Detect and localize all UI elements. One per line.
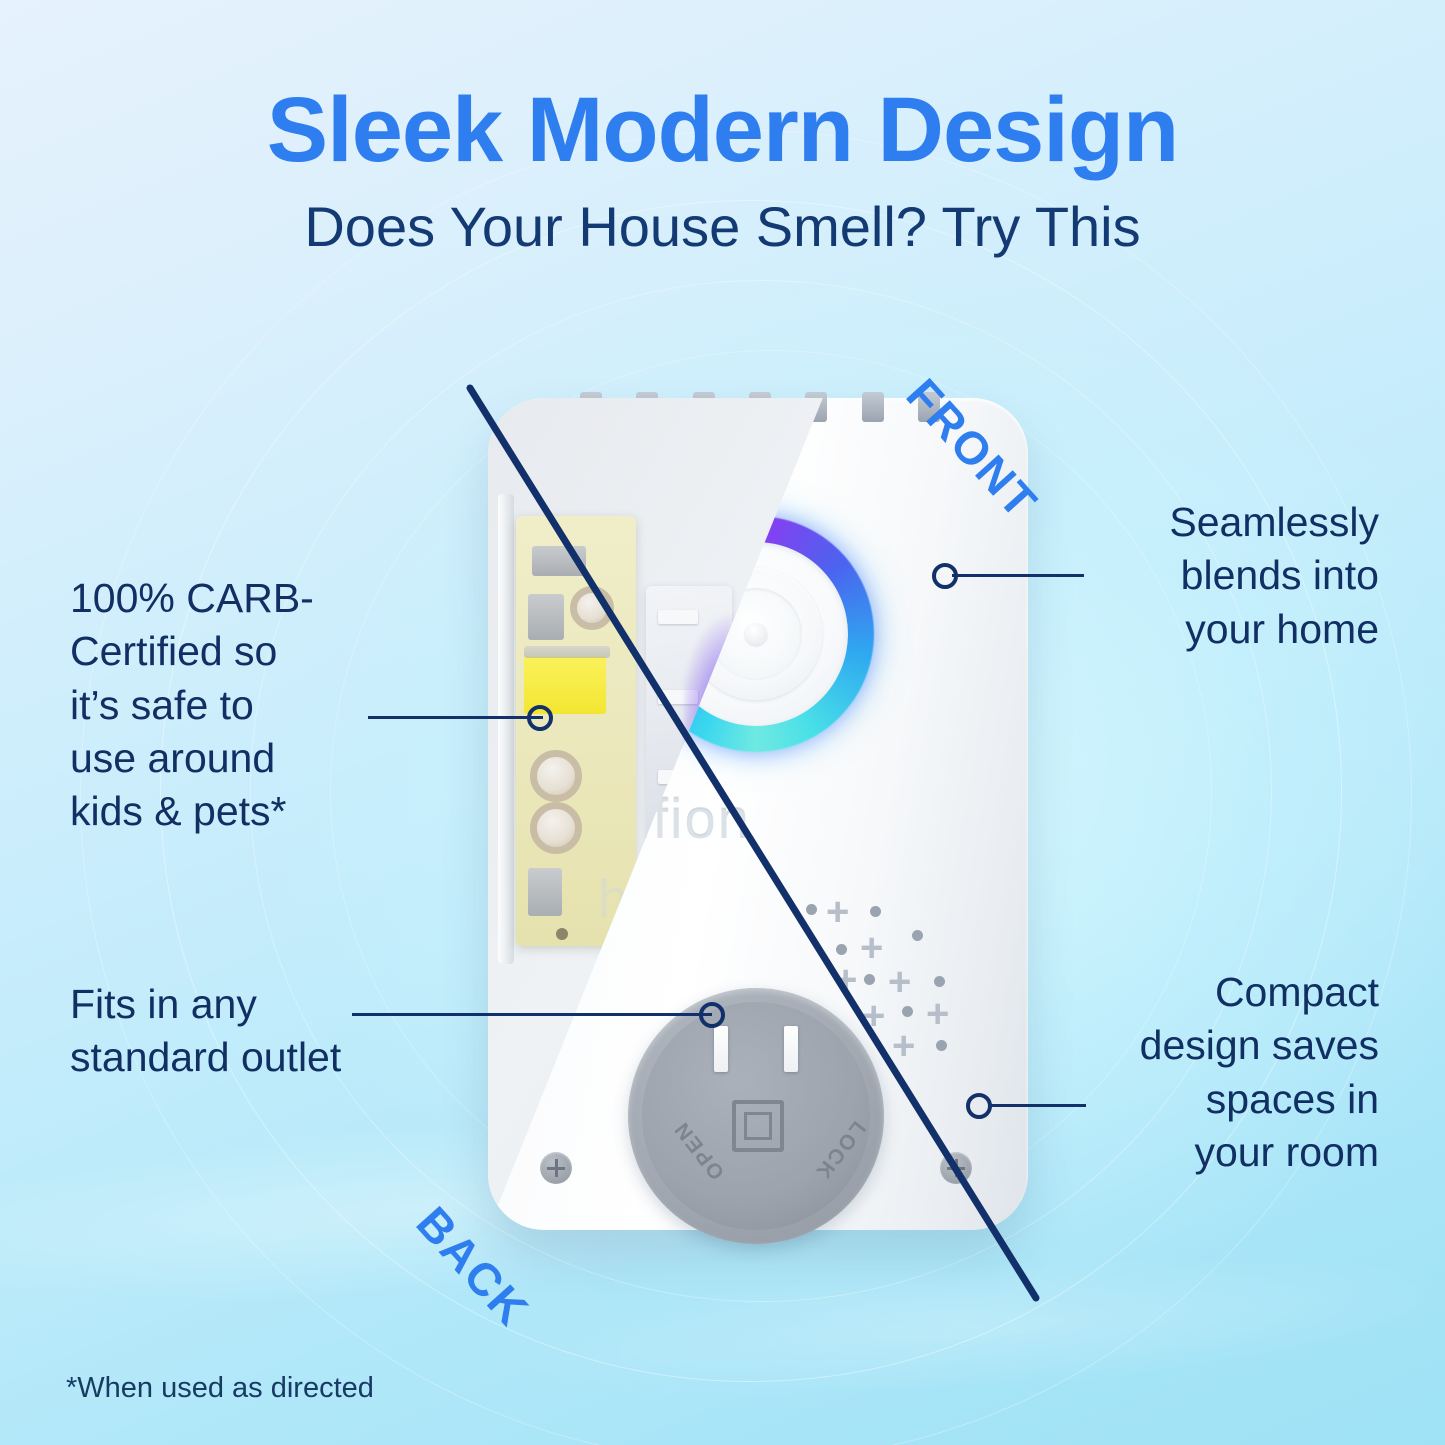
leader-dot-blends xyxy=(932,563,958,589)
ion-plus-icon: + xyxy=(926,994,949,1034)
callout-blends-into-home: Seamlessly blends into your home xyxy=(1109,496,1379,656)
ion-dot xyxy=(806,904,817,915)
plug-prong xyxy=(784,1026,798,1072)
callout-line: your home xyxy=(1109,603,1379,656)
ion-dot xyxy=(870,906,881,917)
leader-line-compact xyxy=(988,1104,1086,1107)
pcb-capacitor xyxy=(570,586,614,630)
plug-rotating-dial[interactable]: OPEN LOCK xyxy=(628,988,884,1244)
ion-dot xyxy=(836,944,847,955)
ion-dot xyxy=(912,930,923,941)
callout-line: kids & pets* xyxy=(70,785,400,838)
callout-line: 100% CARB- xyxy=(70,572,400,625)
leader-line-blends xyxy=(952,574,1084,577)
callout-line: use around xyxy=(70,732,400,785)
pcb-solder-point xyxy=(556,928,568,940)
leader-dot-outlet xyxy=(699,1002,725,1028)
page-subtitle: Does Your House Smell? Try This xyxy=(0,194,1445,259)
pcb-capacitor xyxy=(530,750,582,802)
case-screw xyxy=(540,1152,572,1184)
callout-standard-outlet: Fits in any standard outlet xyxy=(70,978,430,1085)
ion-plus-icon: + xyxy=(862,996,885,1036)
case-inner-rib xyxy=(498,494,514,964)
vent-slot xyxy=(862,392,884,422)
power-button-nub xyxy=(745,623,767,645)
pcb-component xyxy=(524,646,610,658)
callout-line: spaces in xyxy=(1069,1073,1379,1126)
callout-line: Compact xyxy=(1069,966,1379,1019)
callout-line: design saves xyxy=(1069,1019,1379,1072)
callout-line: Certified so xyxy=(70,625,400,678)
device-illustration: ifion + + + + + + + OPEN LOCK xyxy=(488,398,1028,1230)
callout-line: your room xyxy=(1069,1126,1379,1179)
ion-dot xyxy=(864,974,875,985)
footnote-disclaimer: *When used as directed xyxy=(66,1372,374,1405)
callout-line: Seamlessly xyxy=(1109,496,1379,549)
callout-line: blends into xyxy=(1109,549,1379,602)
infographic-canvas: Sleek Modern Design Does Your House Smel… xyxy=(0,0,1445,1445)
callout-line: standard outlet xyxy=(70,1031,430,1084)
ion-plus-icon: + xyxy=(860,928,883,968)
ion-plus-icon: + xyxy=(826,892,849,932)
ion-plus-icon: + xyxy=(888,962,911,1002)
callout-line: it’s safe to xyxy=(70,679,400,732)
page-title: Sleek Modern Design xyxy=(0,78,1445,183)
pcb-capacitor xyxy=(530,802,582,854)
ion-plus-icon: + xyxy=(834,960,857,1000)
brand-logo-embossed: ifion xyxy=(638,786,938,851)
callout-carb-certified: 100% CARB- Certified so it’s safe to use… xyxy=(70,572,400,838)
leader-dot-compact xyxy=(966,1093,992,1119)
callout-compact-design: Compact design saves spaces in your room xyxy=(1069,966,1379,1179)
pcb-connector xyxy=(532,546,586,576)
ion-plus-icon: + xyxy=(892,1026,915,1066)
leader-line-carb xyxy=(368,716,543,719)
leader-dot-carb xyxy=(527,705,553,731)
pcb-component xyxy=(528,594,564,640)
leader-line-outlet xyxy=(352,1013,712,1016)
ion-dot xyxy=(902,1006,913,1017)
ion-dot xyxy=(936,1040,947,1051)
pcb-component xyxy=(528,868,562,916)
plug-prong xyxy=(714,1026,728,1072)
double-insulation-icon xyxy=(732,1100,784,1152)
callout-line: Fits in any xyxy=(70,978,430,1031)
case-screw xyxy=(940,1152,972,1184)
ion-dot xyxy=(934,976,945,987)
